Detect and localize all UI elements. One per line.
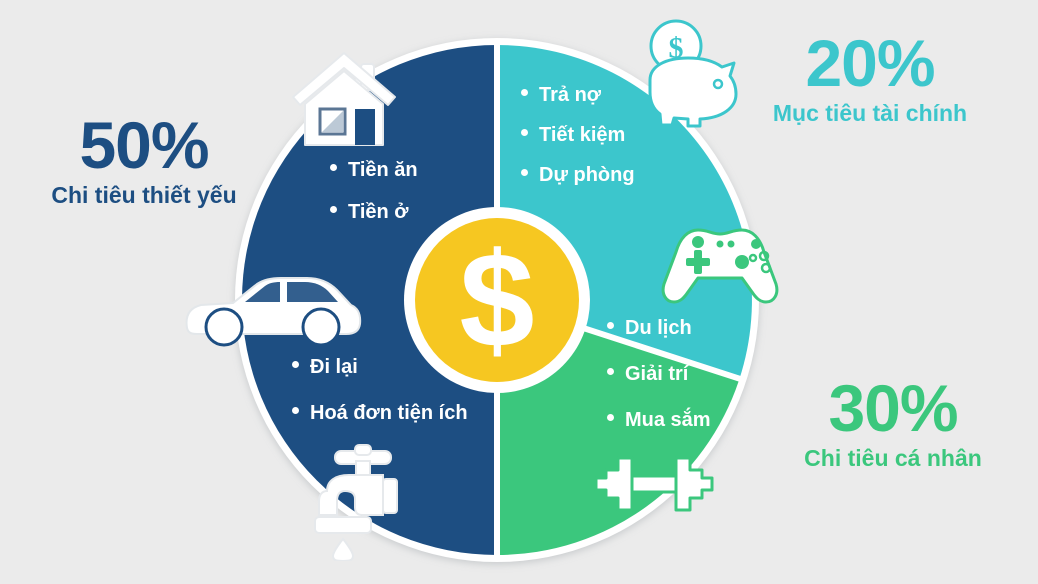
list-item: Trả nợ bbox=[521, 85, 635, 105]
list-item: Du lịch bbox=[607, 318, 711, 338]
list-item-label: Dự phòng bbox=[539, 165, 635, 185]
bullet-dot-icon bbox=[330, 164, 337, 171]
percent-financial: 20% bbox=[710, 30, 1030, 96]
list-item-label: Hoá đơn tiện ích bbox=[310, 403, 468, 423]
list-item: Dự phòng bbox=[521, 165, 635, 185]
list-item-label: Mua sắm bbox=[625, 410, 711, 430]
list-item: Đi lại bbox=[292, 357, 468, 377]
financial-items: Trả nợ Tiết kiệm Dự phòng bbox=[521, 85, 635, 205]
list-item: Tiết kiệm bbox=[521, 125, 635, 145]
list-item-label: Tiết kiệm bbox=[539, 125, 625, 145]
caption-personal: Chi tiêu cá nhân bbox=[748, 447, 1038, 470]
bullet-dot-icon bbox=[292, 361, 299, 368]
center-dollar-symbol: $ bbox=[459, 225, 534, 376]
list-item: Mua sắm bbox=[607, 410, 711, 430]
legend-personal: 30% Chi tiêu cá nhân bbox=[748, 375, 1038, 470]
list-item-label: Du lịch bbox=[625, 318, 692, 338]
bullet-dot-icon bbox=[607, 414, 614, 421]
legend-essential: 50% Chi tiêu thiết yếu bbox=[14, 112, 274, 207]
legend-financial: 20% Mục tiêu tài chính bbox=[710, 30, 1030, 125]
bullet-dot-icon bbox=[292, 407, 299, 414]
bullet-dot-icon bbox=[607, 368, 614, 375]
list-item-label: Tiền ở bbox=[348, 202, 409, 222]
bullet-dot-icon bbox=[521, 129, 528, 136]
list-item-label: Tiền ăn bbox=[348, 160, 418, 180]
faucet-icon bbox=[305, 443, 417, 561]
infographic-canvas: $ $ bbox=[0, 0, 1038, 584]
car-icon bbox=[183, 272, 363, 348]
list-item-label: Giải trí bbox=[625, 364, 688, 384]
dumbbell-icon bbox=[592, 450, 716, 518]
percent-personal: 30% bbox=[748, 375, 1038, 441]
caption-essential: Chi tiêu thiết yếu bbox=[14, 184, 274, 207]
list-item: Tiền ăn bbox=[330, 160, 418, 180]
list-item: Hoá đơn tiện ích bbox=[292, 403, 468, 423]
percent-essential: 50% bbox=[14, 112, 274, 178]
essential-items-top: Tiền ăn Tiền ở bbox=[330, 160, 418, 244]
bullet-dot-icon bbox=[521, 89, 528, 96]
caption-financial: Mục tiêu tài chính bbox=[710, 102, 1030, 125]
personal-items: Du lịch Giải trí Mua sắm bbox=[607, 318, 711, 456]
bullet-dot-icon bbox=[521, 169, 528, 176]
list-item: Tiền ở bbox=[330, 202, 418, 222]
list-item-label: Đi lại bbox=[310, 357, 358, 377]
list-item-label: Trả nợ bbox=[539, 85, 601, 105]
bullet-dot-icon bbox=[607, 322, 614, 329]
gamepad-icon bbox=[660, 222, 780, 306]
bullet-dot-icon bbox=[330, 206, 337, 213]
list-item: Giải trí bbox=[607, 364, 711, 384]
house-icon bbox=[287, 47, 401, 152]
essential-items-bottom: Đi lại Hoá đơn tiện ích bbox=[292, 357, 468, 449]
